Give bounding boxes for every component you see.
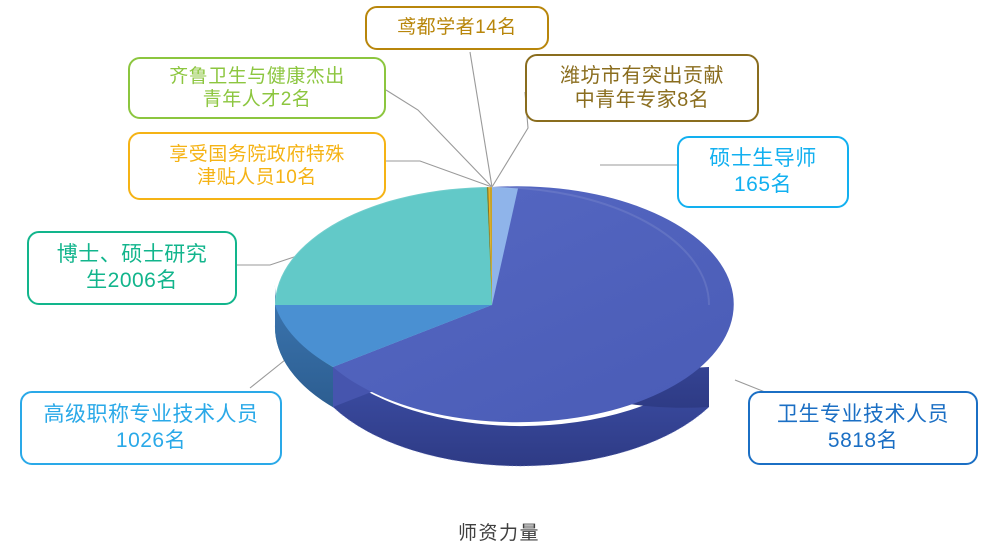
chart-caption: 师资力量	[0, 518, 998, 545]
chart-canvas: 鸢都学者14名 齐鲁卫生与健康杰出 青年人才2名 潍坊市有突出贡献 中青年专家8…	[0, 0, 998, 560]
label-state-council-allowance[interactable]: 享受国务院政府特殊 津贴人员10名	[128, 132, 386, 200]
label-senior-title-staff[interactable]: 高级职称专业技术人员 1026名	[20, 391, 282, 465]
label-weifang-expert[interactable]: 潍坊市有突出贡献 中青年专家8名	[525, 54, 759, 122]
label-yandu-scholar[interactable]: 鸢都学者14名	[365, 6, 549, 50]
label-graduate-students[interactable]: 博士、硕士研究 生2006名	[27, 231, 237, 305]
label-qilu-youth-talent[interactable]: 齐鲁卫生与健康杰出 青年人才2名	[128, 57, 386, 119]
label-master-supervisor[interactable]: 硕士生导师 165名	[677, 136, 849, 208]
label-health-professionals[interactable]: 卫生专业技术人员 5818名	[748, 391, 978, 465]
